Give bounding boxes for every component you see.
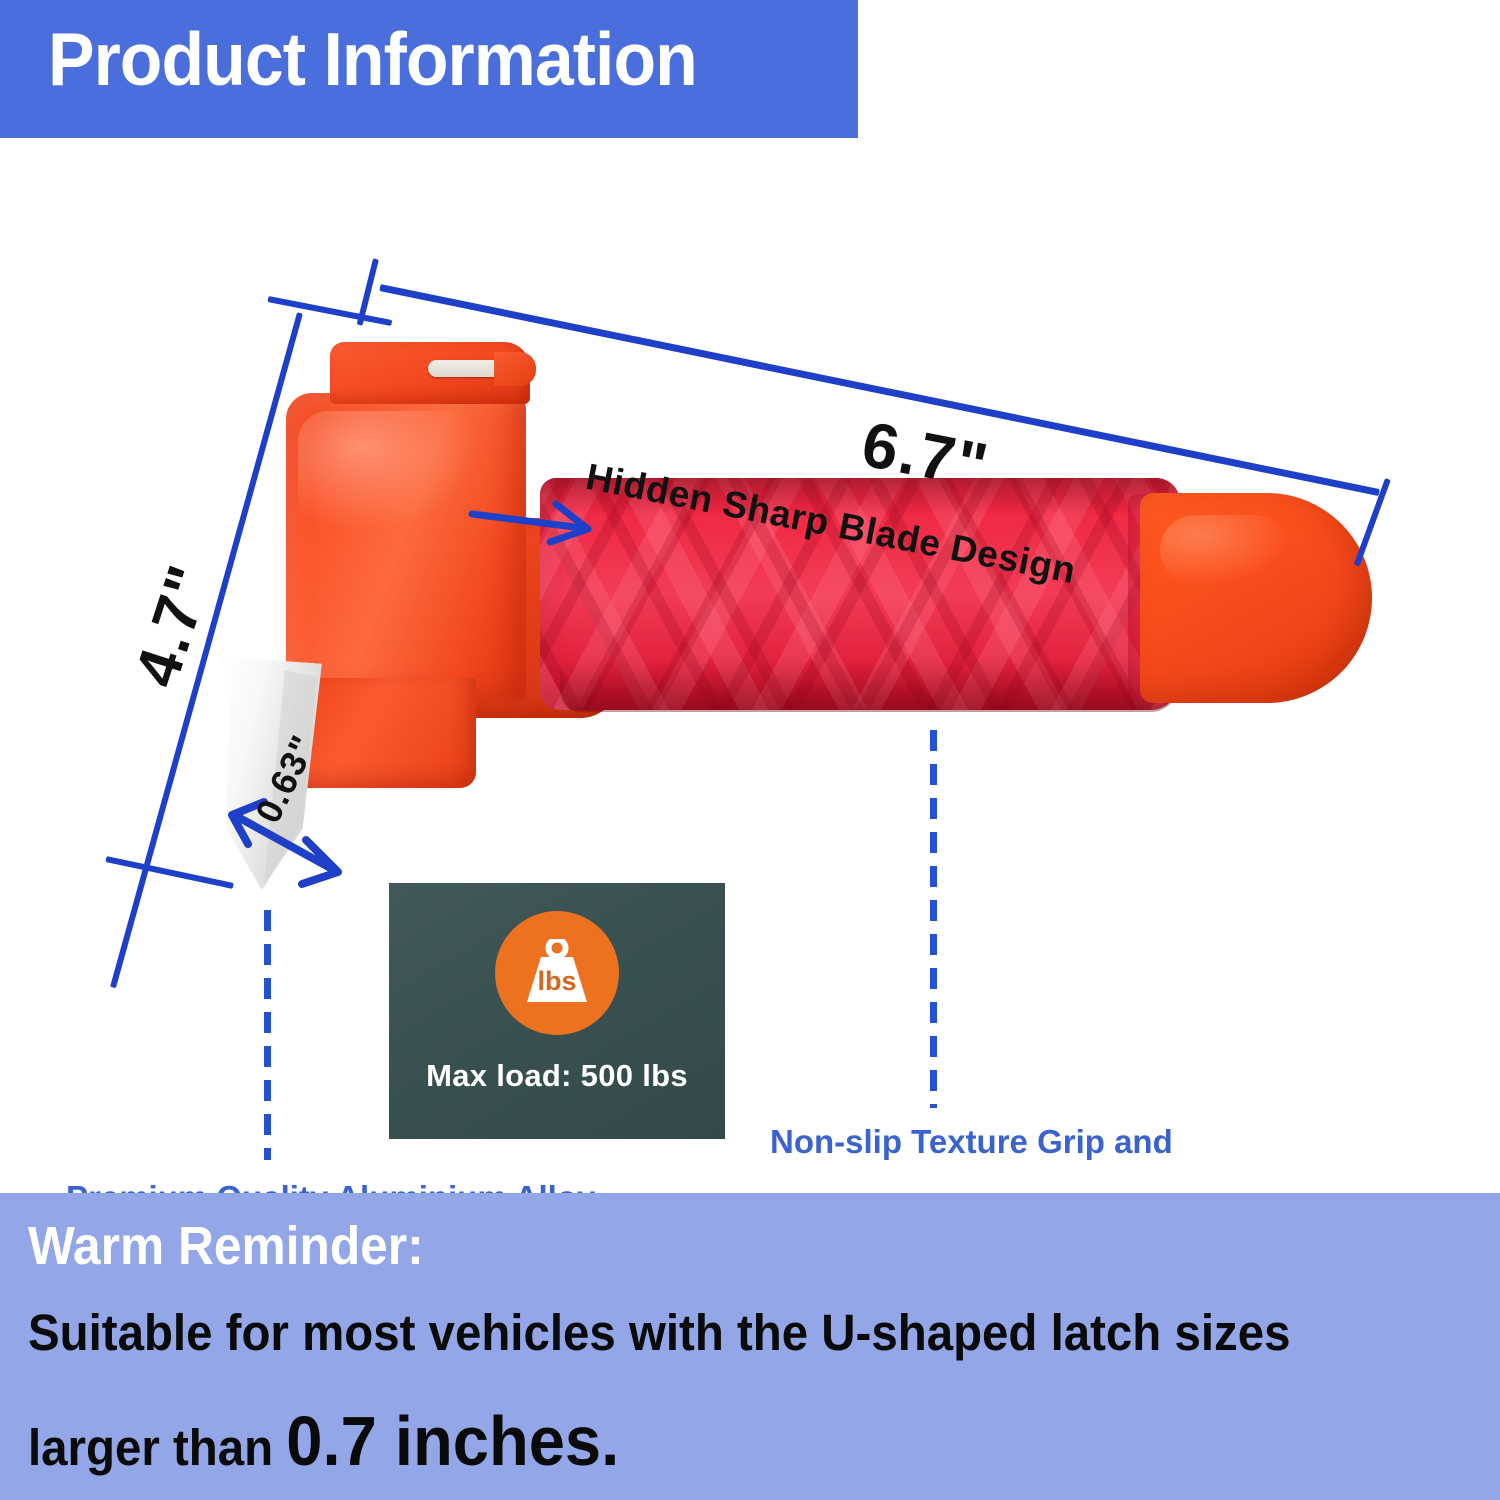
warm-reminder-line2-prefix: larger than — [28, 1419, 286, 1476]
leader-line-grip — [930, 730, 937, 1108]
hidden-blade-arrow — [470, 490, 610, 550]
grip-end-cap — [1140, 493, 1372, 703]
leader-line-aluminium — [264, 910, 271, 1160]
caption-grip-spacer — [770, 1166, 1305, 1184]
warm-reminder-banner: Warm Reminder: Suitable for most vehicle… — [0, 1193, 1500, 1500]
dim-tick-height-bottom — [105, 856, 233, 889]
hook-end-cap — [494, 352, 536, 386]
product-information-banner: Product Information — [0, 0, 858, 138]
max-load-label: Max load: 500 lbs — [389, 1058, 725, 1094]
warm-reminder-emphasis: 0.7 inches — [286, 1402, 601, 1480]
escape-hammer-product-image: 6.7" 4.7" 0.63" Hidden Sharp Blade Desig… — [0, 138, 1500, 1193]
max-load-badge: lbs Max load: 500 lbs — [389, 883, 725, 1139]
weight-icon-text: lbs — [537, 966, 576, 996]
page-title: Product Information — [48, 16, 697, 102]
product-illustration-area: 6.7" 4.7" 0.63" Hidden Sharp Blade Desig… — [0, 138, 1500, 1193]
dim-tick-height-top — [267, 296, 392, 326]
caption-grip-line1: Non-slip Texture Grip and — [770, 1118, 1305, 1166]
warm-reminder-line1: Suitable for most vehicles with the U-sh… — [28, 1303, 1290, 1362]
warm-reminder-line2-suffix: . — [601, 1402, 619, 1480]
warm-reminder-line2: larger than 0.7 inches. — [28, 1401, 619, 1481]
grip-bottom-shading — [560, 658, 1180, 712]
warm-reminder-title: Warm Reminder: — [28, 1215, 424, 1277]
dimension-label-height: 4.7" — [121, 556, 227, 695]
weight-lbs-icon: lbs — [519, 939, 595, 1005]
